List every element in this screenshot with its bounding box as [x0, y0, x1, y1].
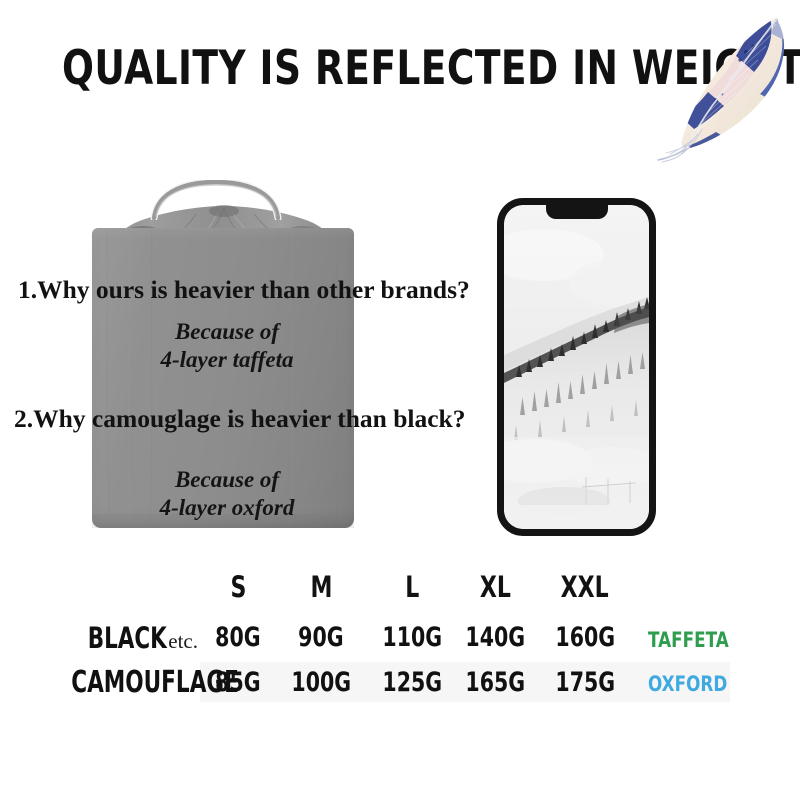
cell-black-xl-value: 140G [465, 622, 525, 654]
weight-table: S M L XL XXL BLACKetc. 80G 90G 110G 140G… [0, 566, 800, 716]
cell-camo-s-value: 85G [215, 667, 260, 699]
size-header-xxl-label: XXL [561, 570, 609, 604]
question-1: 1.Why ours is heavier than other brands? [18, 275, 470, 305]
fabric-tag-taffeta: TAFFETA [648, 627, 758, 653]
feather-icon [650, 8, 800, 163]
cell-black-xl: 140G [445, 622, 545, 654]
answer-2: Because of 4-layer oxford [152, 466, 302, 522]
size-header-l: L [367, 570, 457, 604]
size-header-l-label: L [405, 570, 419, 604]
cell-camo-xxl: 175G [535, 667, 635, 699]
cell-camo-m: 100G [271, 667, 371, 699]
cell-black-l-value: 110G [382, 622, 442, 654]
fabric-tag-taffeta-label: TAFFETA [648, 627, 729, 653]
answer-2-line1: Because of [152, 466, 302, 494]
size-header-xxl: XXL [540, 570, 630, 604]
size-header-m-label: M [310, 570, 332, 604]
row-label-black: BLACKetc. [20, 621, 198, 655]
size-header-s: S [193, 570, 283, 604]
cell-black-xxl-value: 160G [555, 622, 615, 654]
cell-camo-l-value: 125G [382, 667, 442, 699]
fabric-tag-oxford-label: OXFORD [648, 671, 727, 697]
phone-notch [546, 205, 608, 219]
fabric-tag-oxford: OXFORD [648, 671, 758, 697]
size-header-xl: XL [450, 570, 540, 604]
row-label-black-text: BLACK [88, 621, 167, 655]
page-title: QUALITY IS REFLECTED IN WEIGHT [62, 40, 582, 98]
row-label-camouflage: CAMOUFLAGE [6, 665, 198, 701]
question-2: 2.Why camouglage is heavier than black? [14, 404, 465, 434]
weight-comparison-infographic: QUALITY IS REFLECTED IN WEIGHT [0, 0, 800, 800]
cell-black-m-value: 90G [298, 622, 343, 654]
answer-1-line2: 4-layer taffeta [152, 346, 302, 374]
cell-black-s-value: 80G [215, 622, 260, 654]
cell-black-m: 90G [271, 622, 371, 654]
bag-drawstring-cord [148, 180, 284, 220]
size-header-s-label: S [230, 570, 246, 604]
size-header-m: M [276, 570, 366, 604]
answer-1-line1: Because of [152, 318, 302, 346]
answer-1: Because of 4-layer taffeta [152, 318, 302, 374]
phone-screen [504, 205, 649, 529]
answer-2-line2: 4-layer oxford [152, 494, 302, 522]
cell-black-xxl: 160G [535, 622, 635, 654]
cell-camo-m-value: 100G [291, 667, 351, 699]
cell-camo-xxl-value: 175G [555, 667, 615, 699]
cell-camo-xl-value: 165G [465, 667, 525, 699]
size-header-xl-label: XL [479, 570, 510, 604]
smartphone-mockup [497, 198, 656, 536]
cell-camo-xl: 165G [445, 667, 545, 699]
